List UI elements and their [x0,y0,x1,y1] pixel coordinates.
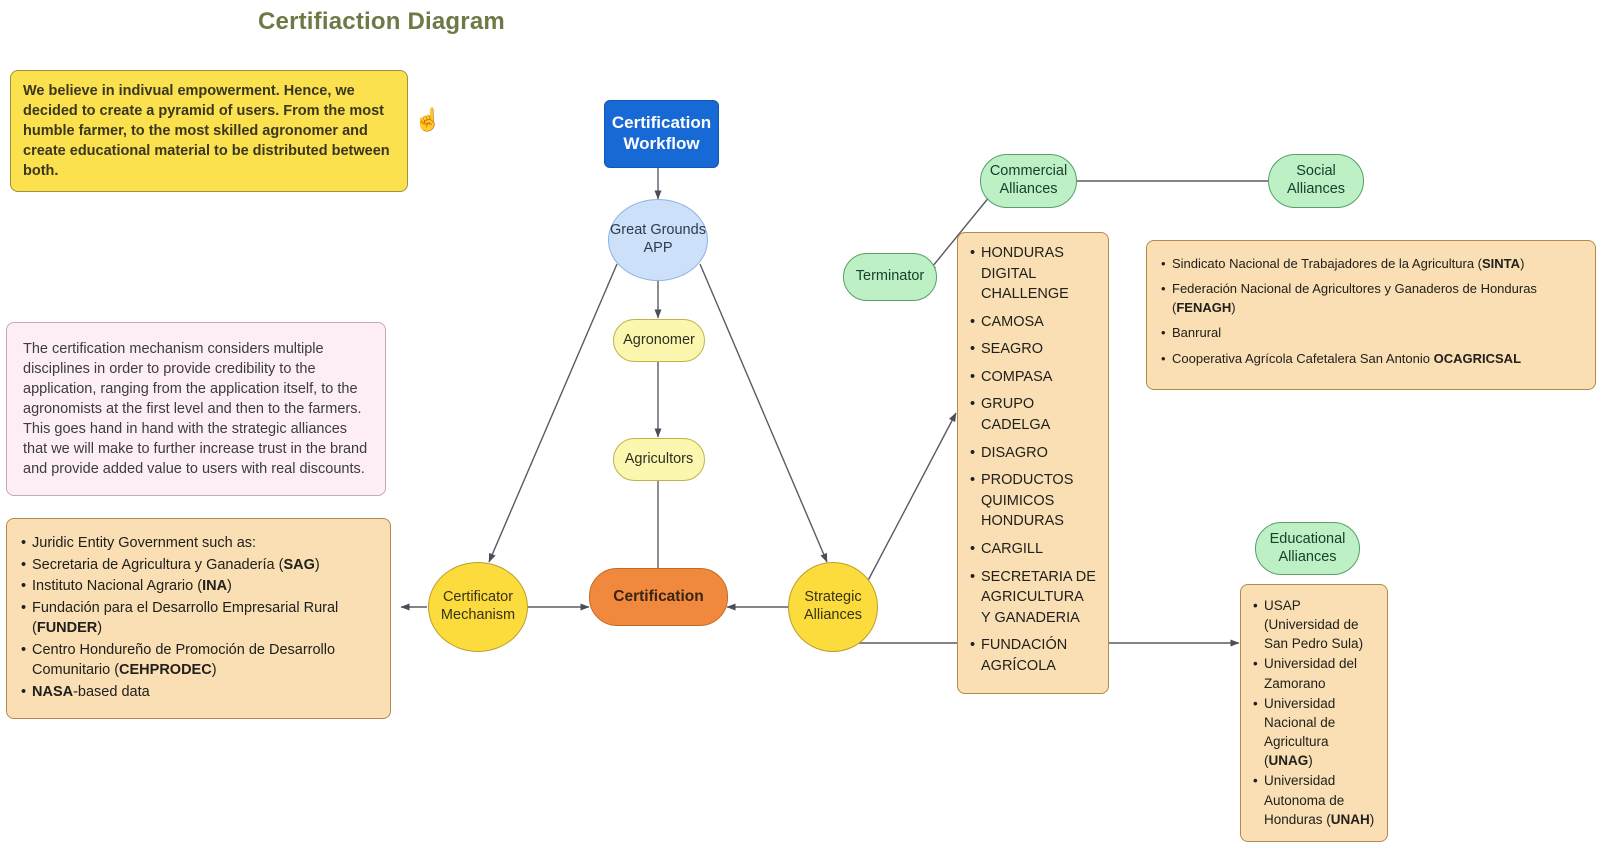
node-label: Certification [613,588,703,607]
social-alliances-list: Sindicato Nacional de Trabajadores de la… [1161,255,1581,368]
node-certification-workflow[interactable]: Certification Workflow [604,100,719,168]
node-terminator[interactable]: Terminator [843,253,937,301]
node-agronomer[interactable]: Agronomer [613,319,705,362]
note-mechanism-text: The certification mechanism considers mu… [23,341,367,477]
list-item: Universidad Autonoma de Honduras (UNAH) [1253,771,1375,828]
list-item: SECRETARIA DE AGRICULTURA Y GANADERIA [970,567,1096,629]
note-commercial-alliances-list: HONDURAS DIGITAL CHALLENGE CAMOSA SEAGRO… [957,232,1109,694]
list-item: Banrural [1161,324,1581,342]
list-item: Instituto Nacional Agrario (INA) [21,576,376,597]
list-item: PRODUCTOS QUIMICOS HONDURAS [970,470,1096,532]
node-certification[interactable]: Certification [589,568,728,626]
note-empowerment: We believe in indivual empowerment. Henc… [10,70,408,192]
node-label: Strategic Alliances [789,589,877,624]
list-item: COMPASA [970,367,1096,388]
list-item: USAP (Universidad de San Pedro Sula) [1253,596,1375,653]
juridic-list: Juridic Entity Government such as: Secre… [21,533,376,703]
node-commercial-alliances[interactable]: Commercial Alliances [980,154,1077,208]
list-item: DISAGRO [970,443,1096,464]
note-mechanism: The certification mechanism considers mu… [6,322,386,496]
list-item: Juridic Entity Government such as: [21,533,376,554]
diagram-canvas: Certifiaction Diagram [0,0,1600,741]
edge-strategic-to-commercial-list [862,413,956,592]
node-label: Agronomer [623,332,695,350]
node-strategic-alliances[interactable]: Strategic Alliances [788,562,878,652]
node-label: Commercial Alliances [981,163,1076,198]
educational-alliances-list: USAP (Universidad de San Pedro Sula) Uni… [1253,596,1375,829]
note-empowerment-text: We believe in indivual empowerment. Henc… [23,83,390,179]
note-juridic-entities: Juridic Entity Government such as: Secre… [6,518,391,719]
node-label: Great Grounds APP [609,222,707,257]
list-item: Cooperativa Agrícola Cafetalera San Anto… [1161,350,1581,368]
list-item: SEAGRO [970,339,1096,360]
list-item: GRUPO CADELGA [970,394,1096,435]
edge-app-to-strategic [700,264,827,562]
list-item: CAMOSA [970,312,1096,333]
node-educational-alliances[interactable]: Educational Alliances [1255,522,1360,575]
list-item: Secretaria de Agricultura y Ganadería (S… [21,555,376,576]
note-social-alliances-list: Sindicato Nacional de Trabajadores de la… [1146,240,1596,390]
edge-app-to-certificator [489,264,617,562]
node-label: Educational Alliances [1256,531,1359,566]
list-item: HONDURAS DIGITAL CHALLENGE [970,243,1096,305]
note-educational-alliances-list: USAP (Universidad de San Pedro Sula) Uni… [1240,584,1388,842]
list-item: Fundación para el Desarrollo Empresarial… [21,598,376,639]
node-certificator-mechanism[interactable]: Certificator Mechanism [428,562,528,652]
list-item: Universidad del Zamorano [1253,654,1375,692]
list-item: NASA-based data [21,682,376,703]
node-agricultors[interactable]: Agricultors [613,438,705,481]
node-social-alliances[interactable]: Social Alliances [1268,154,1364,208]
pointing-up-hand-icon: ☝️ [414,109,441,131]
list-item: FUNDACIÓN AGRÍCOLA [970,635,1096,676]
list-item: Universidad Nacional de Agricultura (UNA… [1253,694,1375,771]
node-label: Social Alliances [1269,163,1363,198]
node-label: Certification Workflow [605,113,718,154]
node-label: Agricultors [625,451,694,469]
list-item: Federación Nacional de Agricultores y Ga… [1161,280,1581,317]
node-great-grounds-app[interactable]: Great Grounds APP [608,199,708,281]
list-item: CARGILL [970,539,1096,560]
node-label: Certificator Mechanism [429,589,527,624]
list-item: Sindicato Nacional de Trabajadores de la… [1161,255,1581,273]
commercial-alliances-list: HONDURAS DIGITAL CHALLENGE CAMOSA SEAGRO… [970,243,1096,676]
list-item: Centro Hondureño de Promoción de Desarro… [21,640,376,681]
page-title: Certifiaction Diagram [258,8,505,36]
node-label: Terminator [856,268,925,286]
